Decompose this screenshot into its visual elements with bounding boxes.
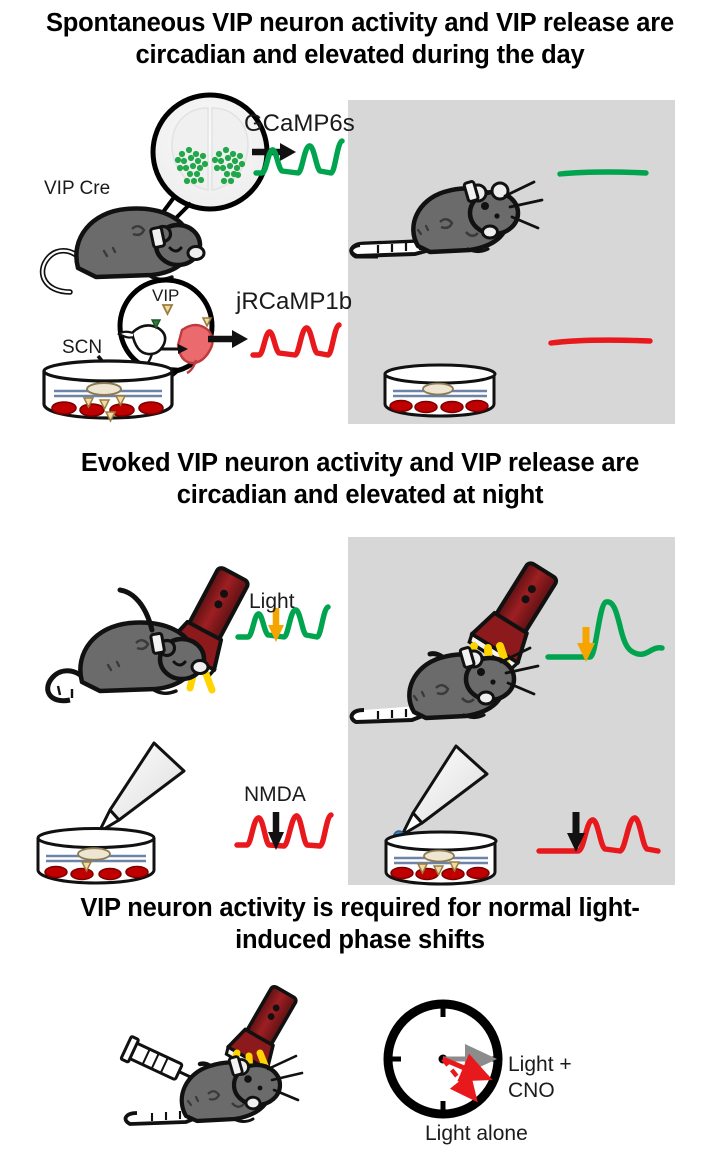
section-2-title-line-1: Evoked VIP neuron activity and VIP relea… (0, 448, 720, 480)
section-3-title: VIP neuron activity is required for norm… (0, 893, 720, 956)
culture-dish-icon-3 (38, 829, 154, 884)
culture-dish-icon-1 (44, 361, 172, 421)
brain-connector-line-1 (146, 196, 175, 235)
section-3-title-line-1: VIP neuron activity is required for norm… (0, 893, 720, 925)
arrow-right-icon-gcamp (252, 143, 296, 161)
label-scn: SCN (62, 337, 102, 359)
clock-icon (388, 1004, 498, 1114)
section-2-title: Evoked VIP neuron activity and VIP relea… (0, 448, 720, 511)
section-1-night-panel (348, 100, 675, 424)
arrow-right-icon-jrcamp (208, 330, 248, 348)
label-light-stimulus: Light (249, 590, 295, 614)
label-vip-inset: VIP (152, 286, 179, 306)
section-1-title-line-2: circadian and elevated during the day (0, 40, 720, 72)
label-nmda-stimulus: NMDA (244, 783, 306, 807)
flashlight-icon-3 (225, 981, 305, 1075)
nmda-evoked-red-trace (237, 815, 331, 846)
gcamp6s-oscillating-trace (256, 141, 342, 173)
section-1-left-artwork (43, 95, 342, 421)
label-vip-cre: VIP Cre (44, 178, 110, 200)
pipette-icon-1 (90, 743, 184, 844)
vip-neuron-dots (175, 147, 245, 184)
nmda-stimulus-arrow-icon (268, 812, 284, 850)
mouse-icon-lit (48, 590, 208, 701)
vip-vesicle-icon (163, 305, 172, 314)
label-jrcamp1b: jRCaMP1b (236, 288, 352, 316)
scn-pointer-arrow (98, 356, 128, 393)
light-alone-hand (443, 1059, 475, 1099)
scientific-figure: Spontaneous VIP neuron activity and VIP … (0, 0, 720, 1156)
section-2-title-line-2: circadian and elevated at night (0, 480, 720, 512)
mouse-icon-cno (126, 1056, 302, 1124)
label-light-alone: Light alone (425, 1122, 528, 1146)
light-rays-icon-3 (232, 1053, 266, 1072)
section-3-title-line-2: induced phase shifts (0, 925, 720, 957)
jrcamp1b-oscillating-trace (253, 325, 339, 355)
syringe-icon (121, 1036, 208, 1094)
mouse-icon-vipcre (43, 209, 204, 292)
section-3-artwork (121, 981, 498, 1124)
flashlight-icon-1 (163, 562, 259, 677)
light-cno-hand (443, 1059, 488, 1078)
fiber-optic-icon (229, 1056, 243, 1076)
brain-connector-line-2 (154, 203, 191, 240)
section-2-night-panel (348, 537, 675, 885)
section-1-title-line-1: Spontaneous VIP neuron activity and VIP … (0, 8, 720, 40)
label-light-plus-cno: Light + CNO (508, 1052, 572, 1103)
droplet-icon (90, 828, 102, 844)
label-gcamp6s: GCaMP6s (244, 110, 355, 138)
light-rays-icon-1 (160, 631, 212, 690)
fiber-optic-icon (151, 633, 165, 654)
fiber-optic-icon (150, 227, 165, 248)
section-1-title: Spontaneous VIP neuron activity and VIP … (0, 8, 720, 71)
